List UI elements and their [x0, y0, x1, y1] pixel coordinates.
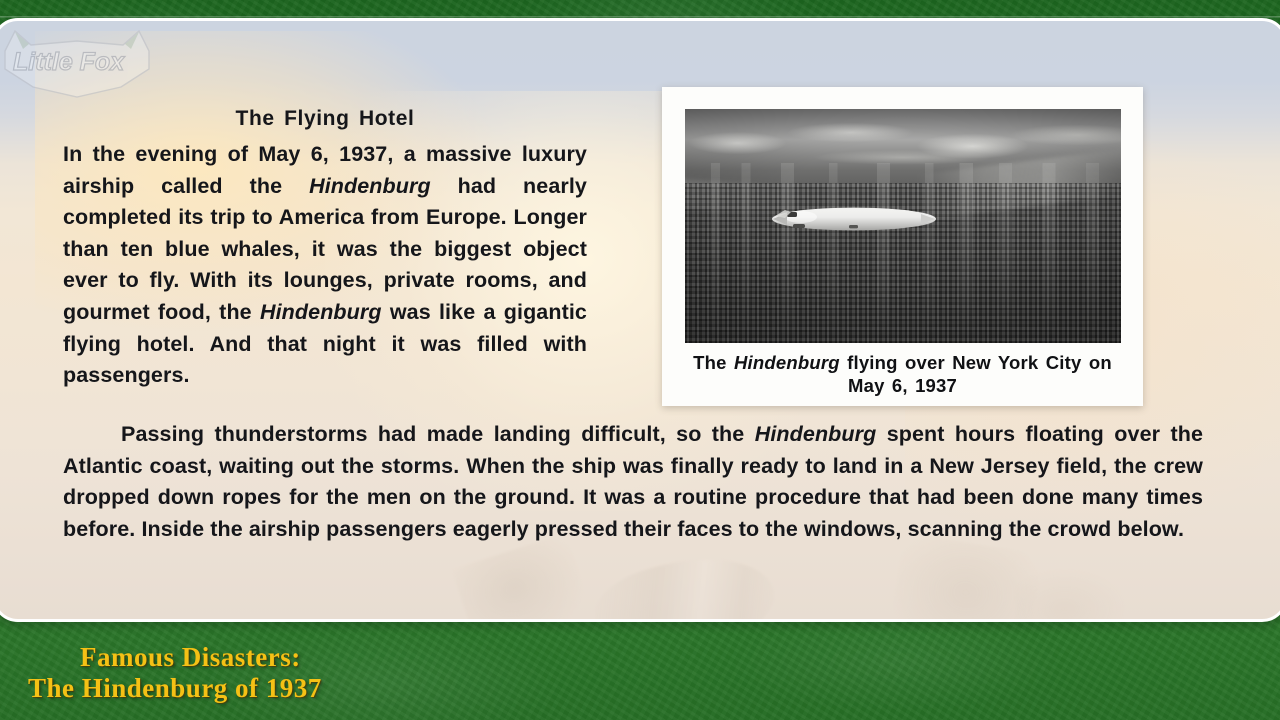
figure-card: The Hindenburg flying over New York City… [662, 87, 1143, 406]
series-title: Famous Disasters: The Hindenburg of 1937 [28, 642, 668, 704]
content-panel: Little Fox The Flying Hotel In the eveni… [0, 18, 1280, 622]
series-title-line-1: Famous Disasters: [28, 642, 668, 673]
hindenburg-photo [685, 109, 1121, 343]
lesson-paragraph-2: Passing thunderstorms had made landing d… [63, 419, 1203, 545]
figure-caption: The Hindenburg flying over New York City… [680, 351, 1125, 397]
series-title-line-2: The Hindenburg of 1937 [28, 673, 668, 704]
lesson-paragraph-1: In the evening of May 6, 1937, a massive… [63, 139, 587, 392]
airship-shape [771, 205, 937, 236]
slide-stage: Little Fox The Flying Hotel In the eveni… [0, 0, 1280, 720]
lesson-heading: The Flying Hotel [65, 107, 585, 131]
